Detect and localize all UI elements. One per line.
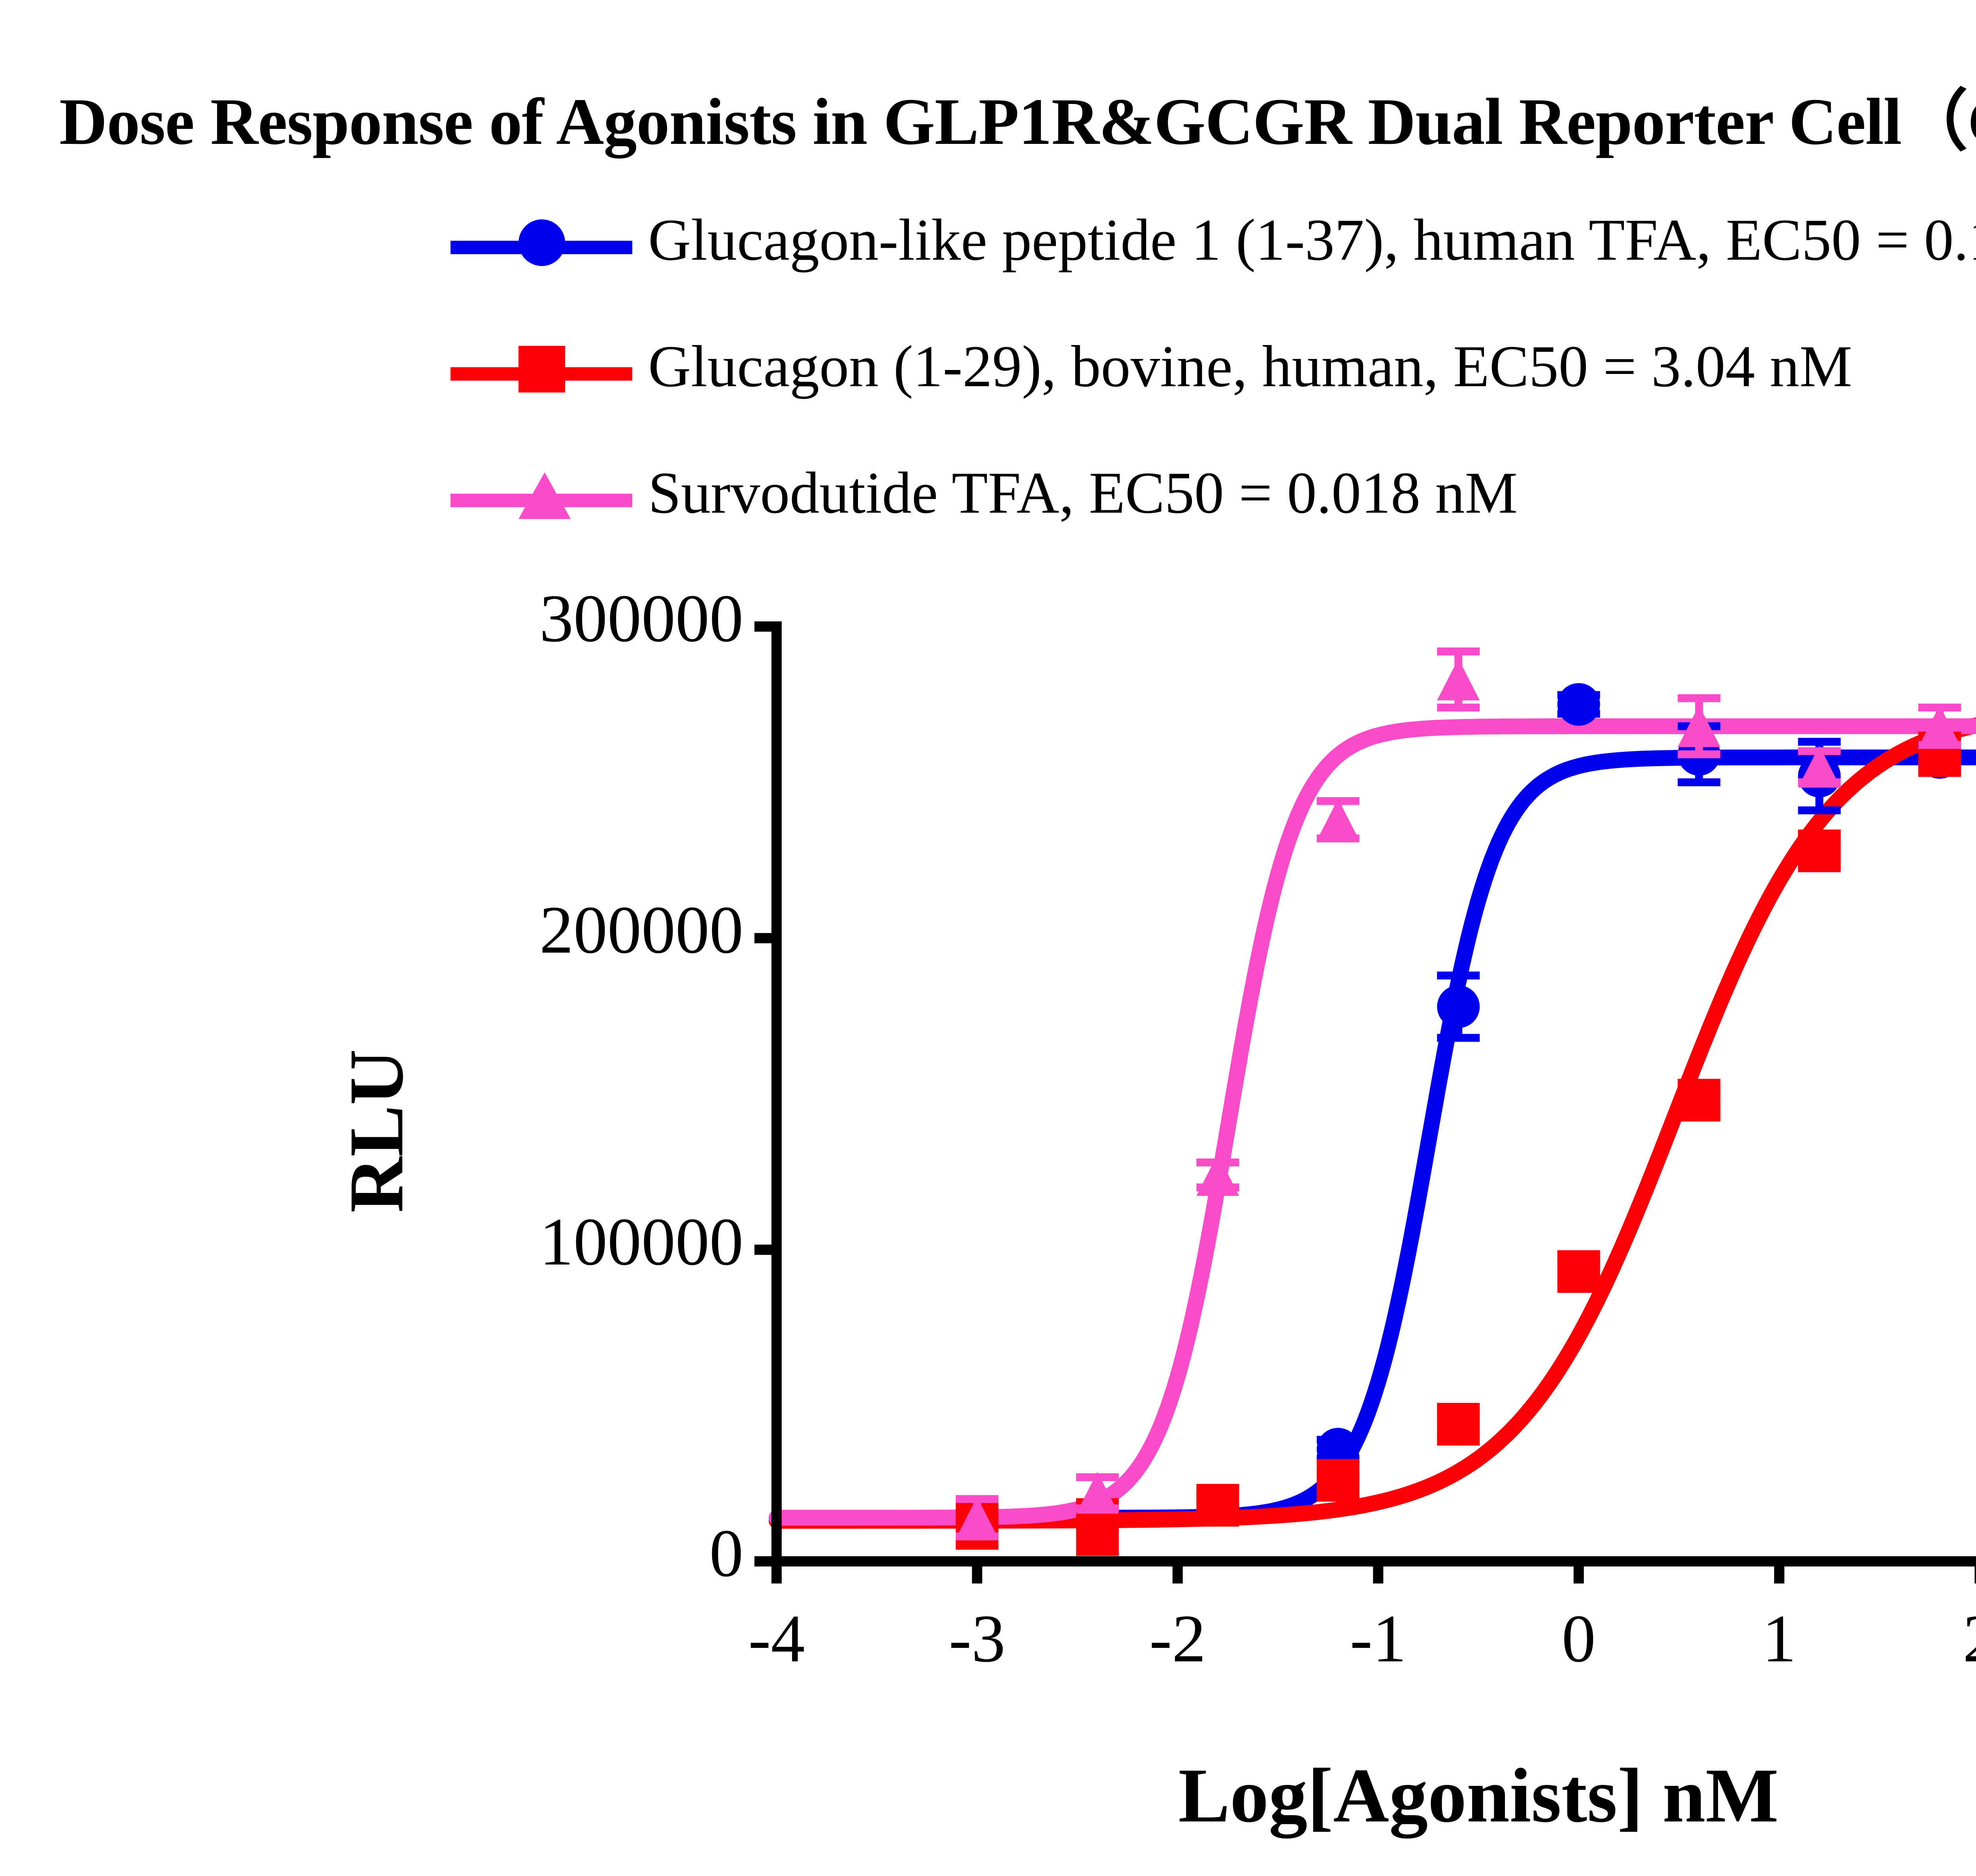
x-axis-tick-label: 1 <box>1692 1600 1866 1678</box>
data-point-square <box>1196 1484 1239 1527</box>
x-axis-tick-label: -3 <box>890 1600 1064 1678</box>
data-point-triangle <box>1437 659 1480 700</box>
y-axis-tick-label: 200000 <box>309 891 743 969</box>
chart-plot-area: 0100000200000300000-4-3-2-10123Log[Agoni… <box>0 0 1976 1876</box>
x-axis-tick-label: 0 <box>1492 1600 1666 1678</box>
data-point-square <box>1678 1079 1720 1121</box>
y-axis-title: RLU <box>332 1049 421 1213</box>
figure-root: Dose Response of Agonists in GLP1R&GCGR … <box>0 0 1976 1876</box>
fit-curve-0 <box>777 757 1976 1518</box>
x-axis-title: Log[Agonists] nM <box>965 1751 1976 1840</box>
data-point-triangle <box>1317 799 1359 841</box>
y-axis-tick-label: 0 <box>309 1515 743 1593</box>
x-axis-tick-label: -2 <box>1091 1600 1265 1678</box>
data-point-circle <box>1437 985 1480 1028</box>
data-point-square <box>1317 1459 1359 1502</box>
data-point-square <box>1557 1250 1600 1293</box>
x-axis-tick-label: -4 <box>690 1600 864 1678</box>
x-axis-tick-label: 2 <box>1893 1600 1976 1678</box>
y-axis-tick-label: 300000 <box>309 580 743 658</box>
x-axis-tick-label: -1 <box>1291 1600 1465 1678</box>
data-point-square <box>1437 1403 1480 1446</box>
data-point-circle <box>1557 683 1600 726</box>
data-point-square <box>1798 830 1841 872</box>
y-axis-tick-label: 100000 <box>309 1203 743 1281</box>
